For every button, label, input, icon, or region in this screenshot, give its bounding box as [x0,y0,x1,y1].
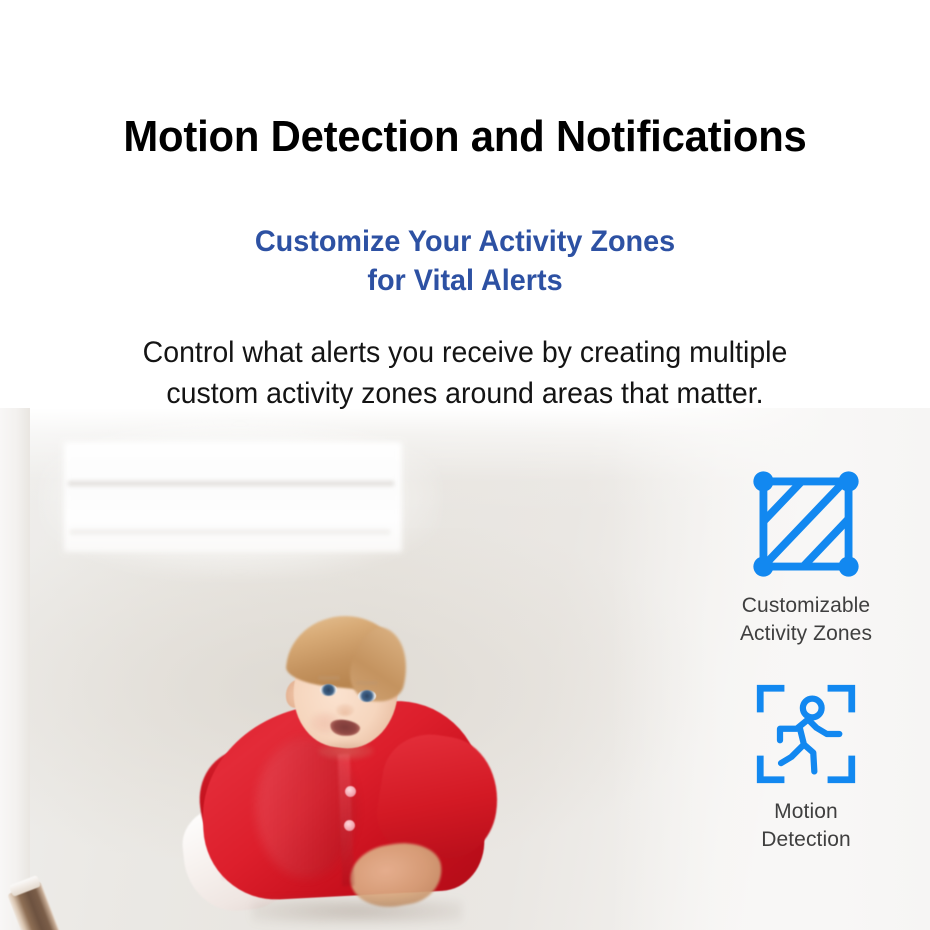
feature-label-line-2: Detection [700,826,912,854]
baby-chin-shadow [318,742,374,760]
description-line-2: custom activity zones around areas that … [23,373,907,414]
feature-label-line-2: Activity Zones [700,620,912,648]
promo-banner: Motion Detection and Notifications Custo… [0,0,930,930]
baby-cardigan-button-lower [344,820,355,831]
baby-figure [232,608,492,930]
feature-label-line-1: Motion [774,800,838,823]
baby-right-eyebrow [356,681,378,685]
baby-nose [336,704,354,716]
feature-label-line-1: Customizable [742,594,870,617]
window-reflection [64,442,402,552]
baby-contact-shadow [252,898,462,924]
wall-left-edge [0,408,30,930]
feature-label-activity-zones: Customizable Activity Zones [700,592,912,648]
page-title: Motion Detection and Notifications [23,112,907,162]
window-reflection-line-lower [70,530,390,534]
baby-left-eye [320,684,337,696]
subtitle-line-2: for Vital Alerts [19,261,912,300]
description-line-1: Control what alerts you receive by creat… [143,336,788,369]
subtitle-line-1: Customize Your Activity Zones [255,225,675,258]
activity-zone-icon [750,468,862,580]
baby-cardigan-button-upper [345,786,356,797]
page-subtitle: Customize Your Activity Zones for Vital … [19,222,912,300]
baby-left-eyebrow [318,676,340,680]
feature-label-motion-detection: Motion Detection [700,798,912,854]
feature-motion-detection: Motion Detection [700,682,912,854]
window-reflection-line [68,481,394,486]
feature-customizable-activity-zones: Customizable Activity Zones [700,468,912,648]
baby-right-eye [358,690,376,702]
motion-detection-icon [754,682,858,786]
page-description: Control what alerts you receive by creat… [23,332,907,414]
